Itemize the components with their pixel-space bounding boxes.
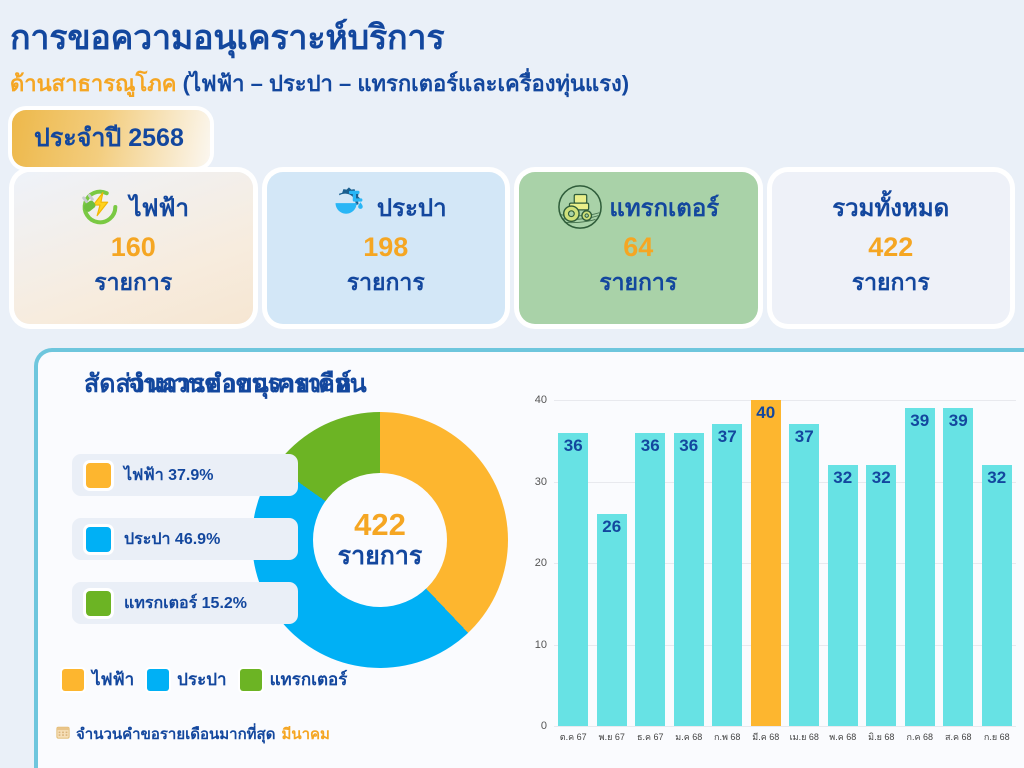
electric-plug-icon <box>77 184 123 230</box>
legend-swatch <box>86 591 111 616</box>
subtitle-accent: ด้านสาธารณูโภค <box>10 71 177 96</box>
legend-item-tractor[interactable]: แทรกเตอร์ <box>240 666 348 693</box>
x-axis-label: ต.ค 67 <box>554 730 593 744</box>
legend-item-electric[interactable]: ไฟฟ้า <box>62 666 134 693</box>
legend-pill-label: ไฟฟ้า 37.9% <box>124 463 214 488</box>
page-title: การขอความอนุเคราะห์บริการ <box>10 10 444 64</box>
bar-value-label: 39 <box>949 411 968 431</box>
page-subtitle: ด้านสาธารณูโภค (ไฟฟ้า – ประปา – แทรกเตอร… <box>10 66 629 101</box>
legend-pill-tractor[interactable]: แทรกเตอร์ 15.2% <box>72 582 298 624</box>
x-axis-label: มี.ค 68 <box>747 730 786 744</box>
bar[interactable]: 36 <box>558 433 588 726</box>
kpi-card-header: ประปา <box>267 184 506 230</box>
bar-column[interactable]: 26 <box>593 400 632 726</box>
x-axis-label: ก.พ 68 <box>708 730 747 744</box>
bar-column[interactable]: 39 <box>901 400 940 726</box>
kpi-card-unit: รายการ <box>599 265 677 301</box>
kpi-card-electric[interactable]: ไฟฟ้า 160 รายการ <box>14 172 253 324</box>
kpi-card-value: 422 <box>868 232 913 263</box>
bar-chart-title: จำนวนคำขอรายเดือน <box>128 364 367 404</box>
bar-column[interactable]: 37 <box>708 400 747 726</box>
bar-chart: 010203040 362636363740373232393932 ต.ค 6… <box>554 400 1016 726</box>
x-axis-label: ม.ค 68 <box>670 730 709 744</box>
subtitle-rest: (ไฟฟ้า – ประปา – แทรกเตอร์และเครื่องทุ่น… <box>177 71 630 96</box>
legend-pill-electric[interactable]: ไฟฟ้า 37.9% <box>72 454 298 496</box>
donut-legend-row: ไฟฟ้า ประปา แทรกเตอร์ <box>62 666 347 693</box>
bar-value-label: 39 <box>910 411 929 431</box>
tractor-icon <box>557 184 603 230</box>
kpi-card-value: 198 <box>363 232 408 263</box>
y-axis-tick: 10 <box>535 639 547 651</box>
bar[interactable]: 32 <box>828 465 858 726</box>
kpi-card-label: แทรกเตอร์ <box>609 188 719 227</box>
bar[interactable]: 36 <box>674 433 704 726</box>
kpi-card-unit: รายการ <box>852 265 930 301</box>
bar-chart-x-axis: ต.ค 67พ.ย 67ธ.ค 67ม.ค 68ก.พ 68มี.ค 68เม.… <box>554 730 1016 744</box>
kpi-card-water[interactable]: ประปา 198 รายการ <box>267 172 506 324</box>
legend-pill-label: ประปา 46.9% <box>124 527 220 552</box>
bar-value-label: 36 <box>679 436 698 456</box>
kpi-card-label: ประปา <box>377 188 447 227</box>
bar[interactable]: 37 <box>789 424 819 726</box>
kpi-card-header: ไฟฟ้า <box>14 184 253 230</box>
y-axis-tick: 30 <box>535 476 547 488</box>
kpi-card-unit: รายการ <box>94 265 172 301</box>
kpi-card-value: 64 <box>623 232 653 263</box>
bar-value-label: 37 <box>718 427 737 447</box>
x-axis-label: พ.ค 68 <box>824 730 863 744</box>
legend-label: แทรกเตอร์ <box>270 666 348 693</box>
legend-swatch <box>240 669 262 691</box>
bar-column[interactable]: 36 <box>631 400 670 726</box>
bar-chart-bars: 362636363740373232393932 <box>554 400 1016 726</box>
legend-pill-water[interactable]: ประปา 46.9% <box>72 518 298 560</box>
legend-swatch <box>62 669 84 691</box>
legend-label: ไฟฟ้า <box>92 666 134 693</box>
bar-column[interactable]: 36 <box>554 400 593 726</box>
bar-column[interactable]: 32 <box>862 400 901 726</box>
bar-column[interactable]: 32 <box>978 400 1017 726</box>
donut-center-unit: รายการ <box>338 542 423 571</box>
bar-column[interactable]: 39 <box>939 400 978 726</box>
y-axis-tick: 40 <box>535 394 547 406</box>
kpi-card-total[interactable]: รวมทั้งหมด 422 รายการ <box>772 172 1011 324</box>
y-axis-tick: 0 <box>541 720 547 732</box>
bar[interactable]: 37 <box>712 424 742 726</box>
x-axis-label: เม.ย 68 <box>785 730 824 744</box>
bar-column[interactable]: 37 <box>785 400 824 726</box>
kpi-card-label: ไฟฟ้า <box>129 188 189 227</box>
footnote-text: จำนวนคำขอรายเดือนมากที่สุด <box>76 722 275 746</box>
x-axis-label: มิ.ย 68 <box>862 730 901 744</box>
kpi-card-tractor[interactable]: แทรกเตอร์ 64 รายการ <box>519 172 758 324</box>
x-axis-label: ก.ค 68 <box>901 730 940 744</box>
bar-value-label: 32 <box>833 468 852 488</box>
bar-column[interactable]: 40 <box>747 400 786 726</box>
bar[interactable]: 39 <box>943 408 973 726</box>
footnote-accent: มีนาคม <box>281 722 330 746</box>
bar[interactable]: 26 <box>597 514 627 726</box>
kpi-card-unit: รายการ <box>347 265 425 301</box>
bar-value-label: 36 <box>641 436 660 456</box>
legend-pill-label: แทรกเตอร์ 15.2% <box>124 591 247 616</box>
bar-value-label: 37 <box>795 427 814 447</box>
kpi-card-label: รวมทั้งหมด <box>832 188 949 227</box>
x-axis-label: ส.ค 68 <box>939 730 978 744</box>
donut-center-value: 422 <box>354 509 406 542</box>
kpi-card-value: 160 <box>111 232 156 263</box>
legend-item-water[interactable]: ประปา <box>147 666 226 693</box>
bar-value-label: 32 <box>987 468 1006 488</box>
legend-swatch <box>147 669 169 691</box>
legend-swatch <box>86 463 111 488</box>
gridline: 0 <box>554 726 1016 727</box>
donut-center: 422 รายการ <box>313 473 447 607</box>
footnote: จำนวนคำขอรายเดือนมากที่สุด มีนาคม <box>56 722 330 746</box>
bar-value-label: 40 <box>756 403 775 423</box>
legend-label: ประปา <box>177 666 226 693</box>
bar-column[interactable]: 32 <box>824 400 863 726</box>
bar[interactable]: 32 <box>982 465 1012 726</box>
water-faucet-gear-icon <box>325 184 371 230</box>
x-axis-label: ธ.ค 67 <box>631 730 670 744</box>
bar[interactable]: 39 <box>905 408 935 726</box>
infographic-page: การขอความอนุเคราะห์บริการ ด้านสาธารณูโภค… <box>0 0 1024 768</box>
kpi-card-row: ไฟฟ้า 160 รายการ ประปา <box>14 172 1010 324</box>
kpi-card-header: แทรกเตอร์ <box>519 184 758 230</box>
bar-column[interactable]: 36 <box>670 400 709 726</box>
bar[interactable]: 32 <box>866 465 896 726</box>
bar-value-label: 32 <box>872 468 891 488</box>
bar-value-label: 36 <box>564 436 583 456</box>
bar-value-label: 26 <box>602 517 621 537</box>
x-axis-label: ก.ย 68 <box>978 730 1017 744</box>
kpi-card-header: รวมทั้งหมด <box>772 184 1011 230</box>
year-badge: ประจำปี 2568 <box>12 110 210 167</box>
legend-swatch <box>86 527 111 552</box>
x-axis-label: พ.ย 67 <box>593 730 632 744</box>
calendar-icon <box>56 725 70 743</box>
y-axis-tick: 20 <box>535 557 547 569</box>
bar[interactable]: 36 <box>635 433 665 726</box>
bar[interactable]: 40 <box>751 400 781 726</box>
